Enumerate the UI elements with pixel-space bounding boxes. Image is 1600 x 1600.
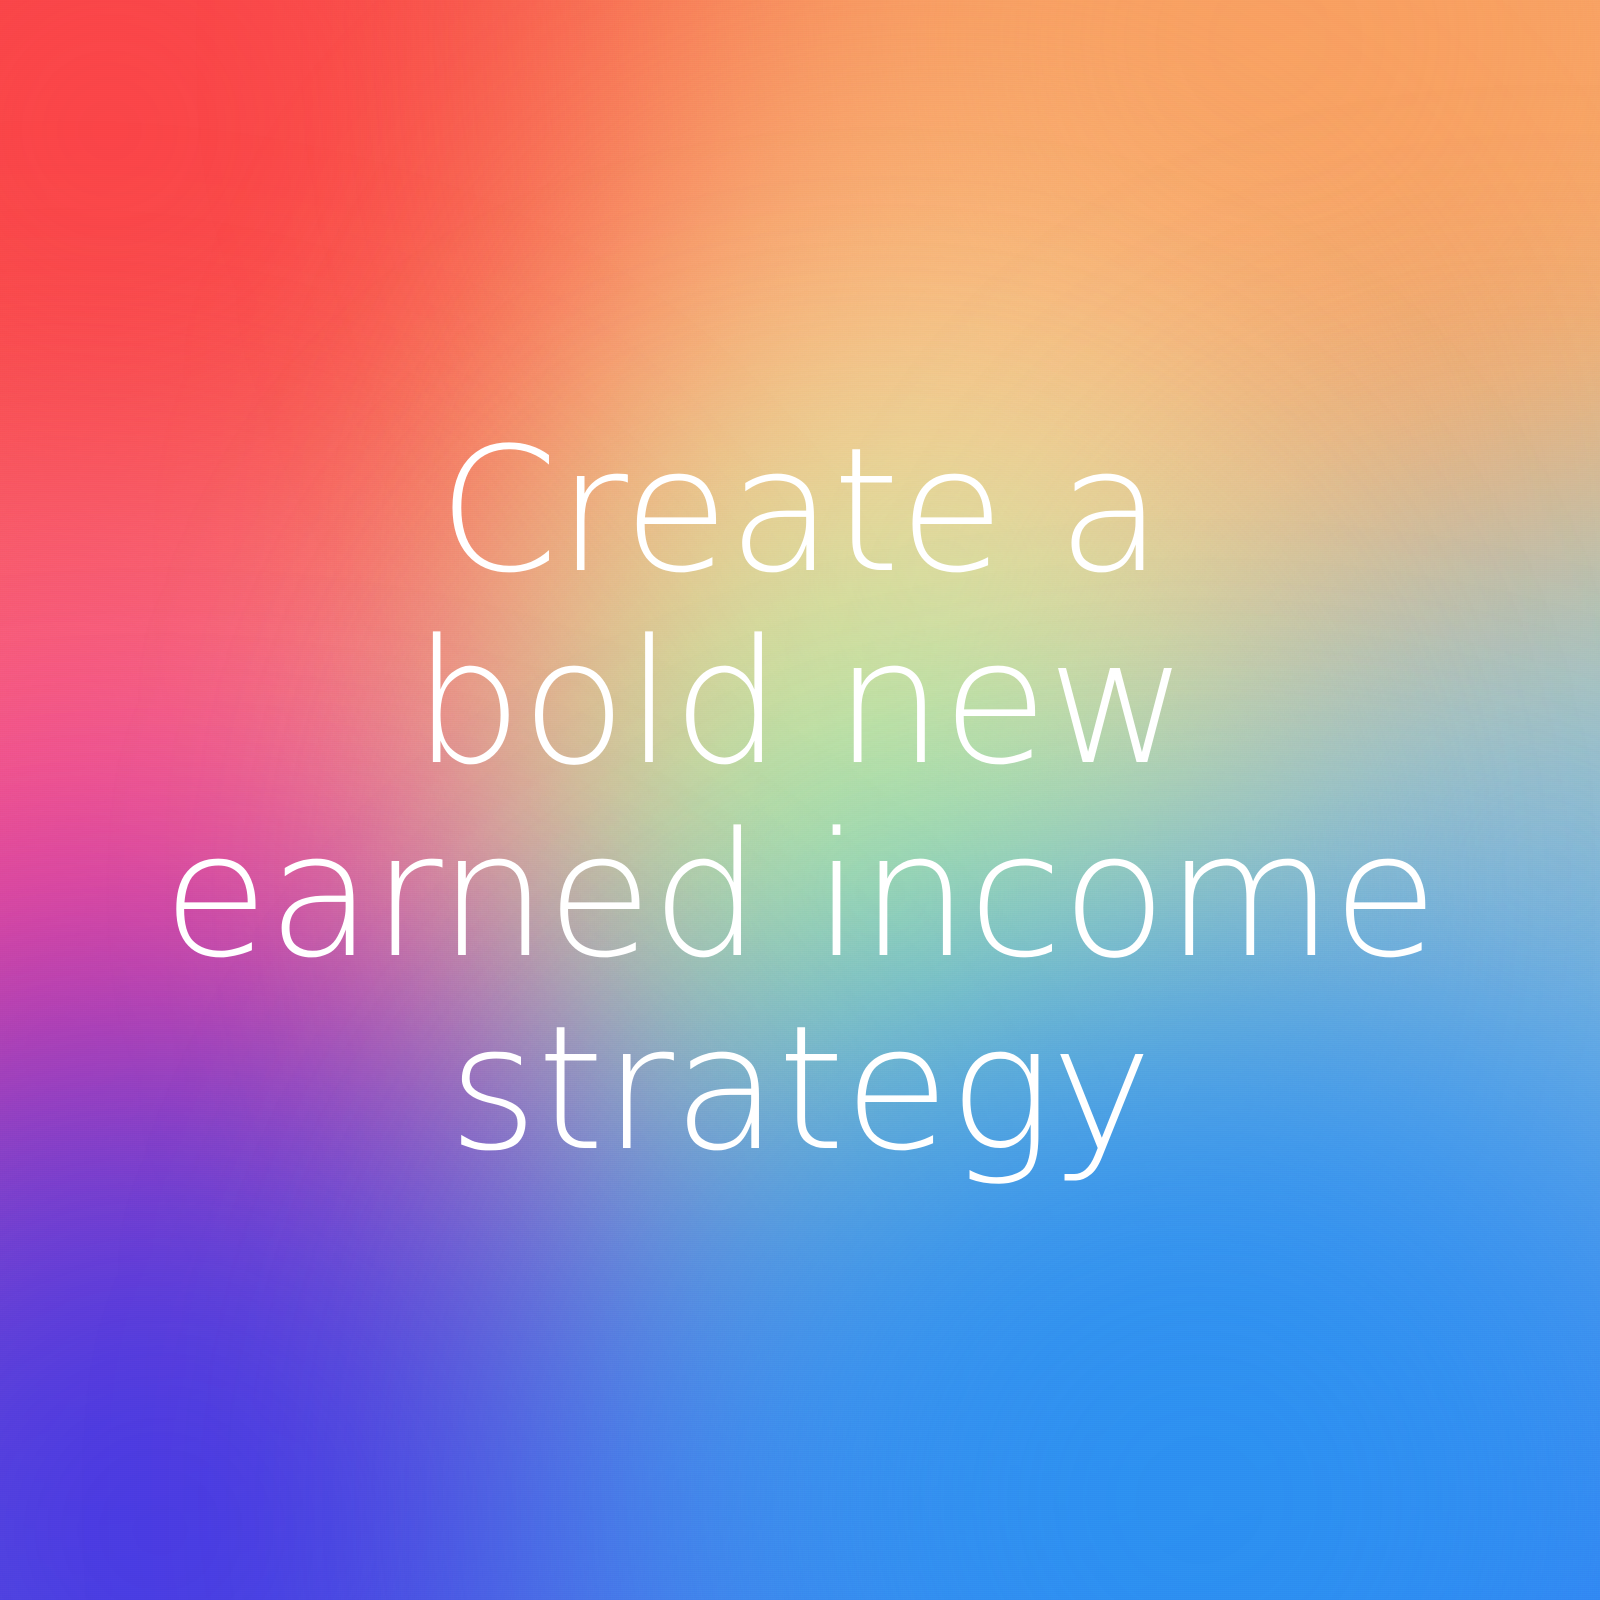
- quote-line-2: bold new: [413, 607, 1187, 800]
- quote-card-canvas: Create a bold new earned income strategy: [0, 0, 1600, 1600]
- quote-text-block: Create a bold new earned income strategy: [0, 0, 1600, 1600]
- quote-line-1: Create a: [438, 415, 1162, 608]
- quote-line-4: strategy: [448, 993, 1151, 1186]
- quote-line-3: earned income: [163, 800, 1438, 993]
